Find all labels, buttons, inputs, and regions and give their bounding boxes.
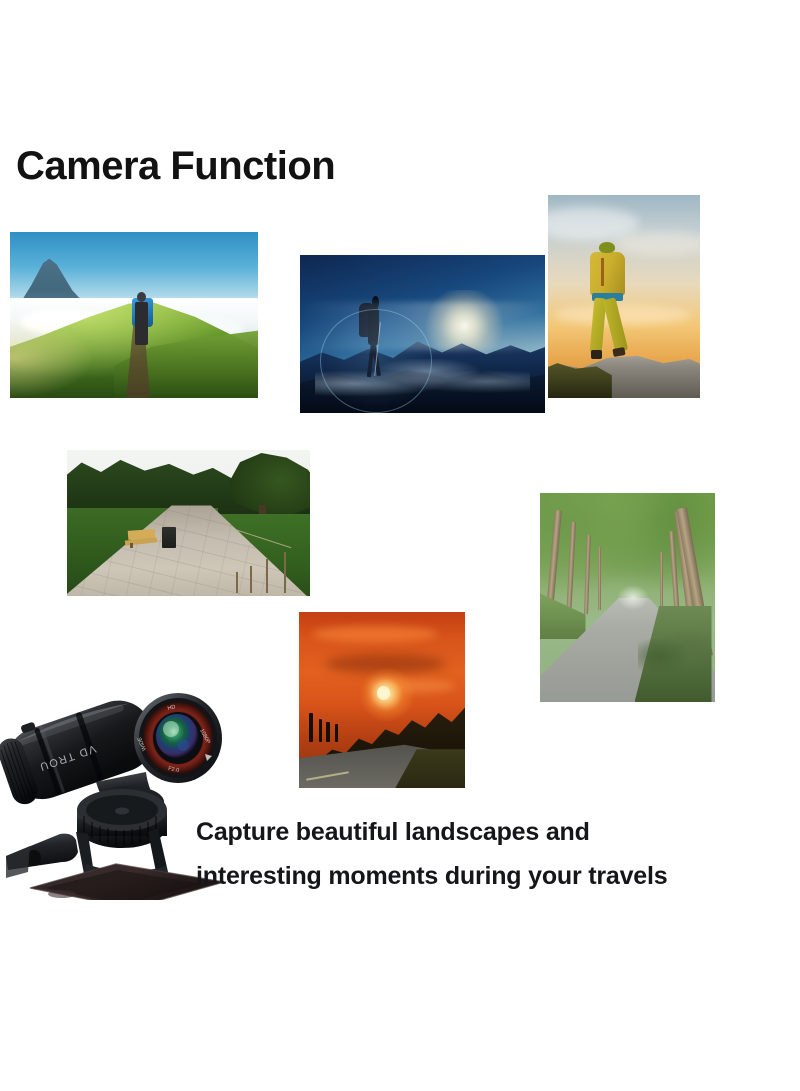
- leg-right: [602, 298, 628, 354]
- trash-bin: [162, 527, 177, 547]
- caption-line-2: interesting moments during your travels: [196, 854, 796, 898]
- tree-trunk: [660, 552, 663, 611]
- sunset-scene: [299, 612, 465, 788]
- tree-trunk: [598, 547, 601, 610]
- rope-fence: [232, 523, 295, 593]
- photo-ridge-hiker: [10, 232, 258, 398]
- lens-flare-ring: [320, 309, 433, 413]
- caption-line-1: Capture beautiful landscapes and: [196, 810, 796, 854]
- boot-right: [613, 347, 626, 357]
- fence-post: [250, 566, 252, 593]
- bench-leg: [130, 543, 133, 548]
- climbing-helmet: [599, 242, 615, 254]
- caption-block: Capture beautiful landscapes and interes…: [196, 810, 796, 898]
- yellow-jacket: [590, 252, 625, 296]
- ground-shrubs: [638, 627, 708, 686]
- figure: [326, 722, 330, 742]
- photo-tree-lined-road: [540, 493, 715, 702]
- fence-post: [266, 559, 268, 593]
- figure: [319, 719, 322, 742]
- vanishing-point-light: [617, 585, 649, 610]
- park-scene: [67, 450, 310, 596]
- page-title: Camera Function: [16, 146, 335, 186]
- park-bench: [125, 529, 157, 548]
- photo-orange-sunset: [299, 612, 465, 788]
- sunflare-scene: [300, 255, 545, 413]
- fence-rope: [235, 529, 292, 548]
- summit-scene: [548, 195, 700, 398]
- photo-sunflare-backpacker: [300, 255, 545, 413]
- tree-trunk: [584, 535, 591, 614]
- figure: [309, 713, 313, 742]
- product-feature-page: Camera Function: [0, 0, 800, 1091]
- boot-left: [591, 350, 602, 358]
- ridge-scene: [10, 232, 258, 398]
- backpack-strap: [601, 258, 604, 286]
- sun-glow: [10, 318, 94, 398]
- photo-park-path: [67, 450, 310, 596]
- figure: [335, 724, 338, 742]
- climber-figure: [581, 242, 636, 358]
- fence-post: [236, 572, 238, 593]
- hiker-head: [137, 292, 146, 302]
- photo-summit-climber: [548, 195, 700, 398]
- hiker-body: [135, 302, 147, 345]
- fence-post: [284, 552, 286, 593]
- cloud-upper: [312, 626, 438, 642]
- tree-road-scene: [540, 493, 715, 702]
- tree-trunk: [566, 522, 576, 618]
- distant-figures: [307, 711, 350, 743]
